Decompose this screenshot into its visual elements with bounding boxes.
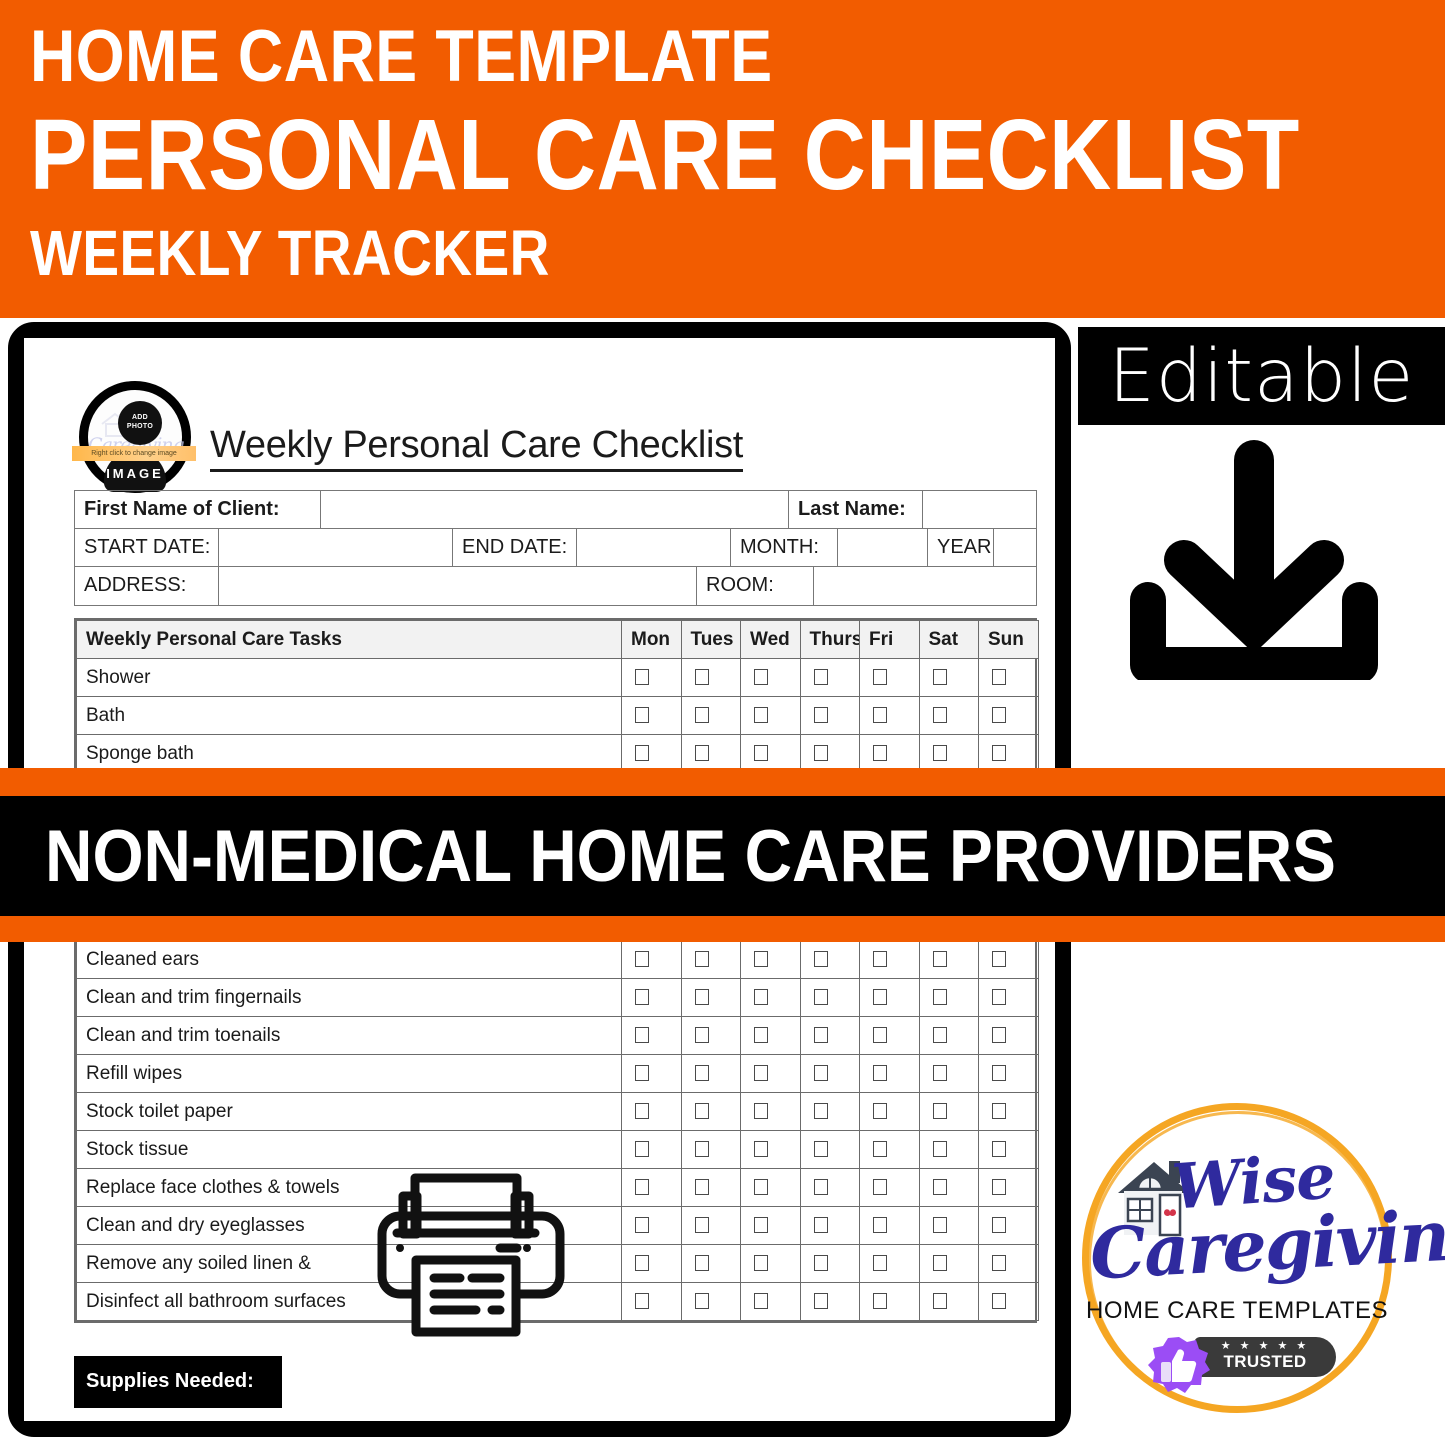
task-day-cell[interactable] xyxy=(800,1093,860,1131)
task-day-cell[interactable] xyxy=(622,735,682,773)
task-day-cell[interactable] xyxy=(681,1131,741,1169)
task-day-cell[interactable] xyxy=(681,941,741,979)
task-label: Refill wipes xyxy=(77,1055,622,1093)
task-day-cell[interactable] xyxy=(741,1017,801,1055)
task-day-cell[interactable] xyxy=(741,1283,801,1321)
checkbox-empty-icon[interactable] xyxy=(933,1293,947,1309)
checkbox-empty-icon[interactable] xyxy=(873,951,887,967)
task-day-cell[interactable] xyxy=(919,1169,979,1207)
info-label: END DATE: xyxy=(453,529,577,566)
task-day-cell[interactable] xyxy=(741,1055,801,1093)
checkbox-empty-icon[interactable] xyxy=(695,1103,709,1119)
task-day-cell[interactable] xyxy=(681,659,741,697)
table-row: Stock toilet paper xyxy=(77,1093,1039,1131)
task-day-cell[interactable] xyxy=(622,697,682,735)
table-header-row: Weekly Personal Care TasksMonTuesWedThur… xyxy=(77,621,1039,659)
task-day-cell[interactable] xyxy=(622,1245,682,1283)
checkbox-empty-icon[interactable] xyxy=(992,745,1006,761)
task-day-cell[interactable] xyxy=(622,1207,682,1245)
editable-badge: Editable xyxy=(1078,327,1445,425)
task-day-cell[interactable] xyxy=(622,1131,682,1169)
table-row: Shower xyxy=(77,659,1039,697)
checkbox-empty-icon[interactable] xyxy=(933,1217,947,1233)
checkbox-empty-icon[interactable] xyxy=(695,1027,709,1043)
checklist-table-top: Weekly Personal Care TasksMonTuesWedThur… xyxy=(74,618,1037,775)
task-label: Stock toilet paper xyxy=(77,1093,622,1131)
task-label: Clean and trim toenails xyxy=(77,1017,622,1055)
download-arrow-icon xyxy=(1130,440,1380,680)
checkbox-empty-icon[interactable] xyxy=(695,669,709,685)
info-label: ADDRESS: xyxy=(75,567,219,605)
task-day-cell[interactable] xyxy=(622,1093,682,1131)
brand-logo: Wise Caregiving HOME CARE TEMPLATES ★ ★ … xyxy=(1076,1097,1398,1419)
info-input[interactable] xyxy=(814,567,1036,605)
add-photo-line1: ADD xyxy=(132,414,148,421)
checkbox-empty-icon[interactable] xyxy=(992,1217,1006,1233)
task-day-cell[interactable] xyxy=(919,735,979,773)
checkbox-empty-icon[interactable] xyxy=(873,669,887,685)
checkbox-empty-icon[interactable] xyxy=(873,1179,887,1195)
checkbox-empty-icon[interactable] xyxy=(695,1141,709,1157)
task-label: Stock tissue xyxy=(77,1131,622,1169)
table-row: Sponge bath xyxy=(77,735,1039,773)
table-row: Cleaned ears xyxy=(77,941,1039,979)
document-title: Weekly Personal Care Checklist xyxy=(210,424,743,472)
task-day-cell[interactable] xyxy=(622,979,682,1017)
day-column-header: Mon xyxy=(622,621,682,659)
checkbox-empty-icon[interactable] xyxy=(754,1179,768,1195)
task-day-cell[interactable] xyxy=(622,941,682,979)
info-input[interactable] xyxy=(219,529,453,566)
info-row: First Name of Client:Last Name: xyxy=(75,491,1036,529)
checkbox-empty-icon[interactable] xyxy=(814,989,828,1005)
checkbox-empty-icon[interactable] xyxy=(992,1065,1006,1081)
task-day-cell[interactable] xyxy=(741,735,801,773)
checkbox-empty-icon[interactable] xyxy=(873,1141,887,1157)
task-label: Clean and trim fingernails xyxy=(77,979,622,1017)
checkbox-empty-icon[interactable] xyxy=(635,989,649,1005)
checkbox-empty-icon[interactable] xyxy=(814,1217,828,1233)
info-input[interactable] xyxy=(577,529,731,566)
table-row: Clean and trim fingernails xyxy=(77,979,1039,1017)
task-day-cell[interactable] xyxy=(741,1169,801,1207)
table-row: Clean and trim toenails xyxy=(77,1017,1039,1055)
task-day-cell[interactable] xyxy=(979,1093,1039,1131)
task-day-cell[interactable] xyxy=(681,1093,741,1131)
task-day-cell[interactable] xyxy=(979,1283,1039,1321)
checkbox-empty-icon[interactable] xyxy=(814,745,828,761)
checkbox-empty-icon[interactable] xyxy=(933,1103,947,1119)
info-label: Last Name: xyxy=(789,491,923,528)
task-day-cell[interactable] xyxy=(860,1055,920,1093)
task-day-cell[interactable] xyxy=(919,979,979,1017)
task-day-cell[interactable] xyxy=(741,1207,801,1245)
checkbox-empty-icon[interactable] xyxy=(814,1255,828,1271)
checkbox-empty-icon[interactable] xyxy=(933,1141,947,1157)
checkbox-empty-icon[interactable] xyxy=(695,989,709,1005)
task-day-cell[interactable] xyxy=(800,941,860,979)
checkbox-empty-icon[interactable] xyxy=(695,1293,709,1309)
task-day-cell[interactable] xyxy=(860,697,920,735)
checkbox-empty-icon[interactable] xyxy=(873,745,887,761)
task-day-cell[interactable] xyxy=(800,1055,860,1093)
mid-banner: NON-MEDICAL HOME CARE PROVIDERS xyxy=(0,796,1445,916)
task-day-cell[interactable] xyxy=(681,979,741,1017)
checkbox-empty-icon[interactable] xyxy=(933,745,947,761)
task-day-cell[interactable] xyxy=(979,1017,1039,1055)
task-day-cell[interactable] xyxy=(919,1055,979,1093)
task-day-cell[interactable] xyxy=(979,1055,1039,1093)
task-day-cell[interactable] xyxy=(979,1131,1039,1169)
task-day-cell[interactable] xyxy=(681,1055,741,1093)
info-input[interactable] xyxy=(994,529,1036,566)
logo-image-word: IMAGE xyxy=(94,466,176,481)
checkbox-empty-icon[interactable] xyxy=(992,669,1006,685)
checkbox-empty-icon[interactable] xyxy=(635,1217,649,1233)
checkbox-empty-icon[interactable] xyxy=(635,951,649,967)
task-day-cell[interactable] xyxy=(622,1017,682,1055)
info-row: ADDRESS:ROOM: xyxy=(75,567,1036,605)
thumbs-up-icon xyxy=(1146,1335,1212,1397)
supplies-needed-label: Supplies Needed: xyxy=(74,1356,282,1408)
checkbox-empty-icon[interactable] xyxy=(754,1255,768,1271)
table-row: Refill wipes xyxy=(77,1055,1039,1093)
info-label: First Name of Client: xyxy=(75,491,321,528)
checkbox-empty-icon[interactable] xyxy=(873,1103,887,1119)
task-day-cell[interactable] xyxy=(860,1283,920,1321)
task-day-cell[interactable] xyxy=(681,1017,741,1055)
task-day-cell[interactable] xyxy=(800,659,860,697)
day-column-header: Sun xyxy=(979,621,1039,659)
checkbox-empty-icon[interactable] xyxy=(992,1179,1006,1195)
table-row: Stock tissue xyxy=(77,1131,1039,1169)
header-eyebrow: HOME CARE TEMPLATE xyxy=(30,22,1221,93)
info-label: MONTH: xyxy=(731,529,838,566)
task-day-cell[interactable] xyxy=(681,1245,741,1283)
task-day-cell[interactable] xyxy=(741,979,801,1017)
add-photo-line2: PHOTO xyxy=(127,423,153,430)
task-day-cell[interactable] xyxy=(622,659,682,697)
task-day-cell[interactable] xyxy=(800,1131,860,1169)
day-column-header: Wed xyxy=(741,621,801,659)
checkbox-empty-icon[interactable] xyxy=(814,1179,828,1195)
trusted-label: TRUSTED xyxy=(1194,1352,1336,1372)
checkbox-empty-icon[interactable] xyxy=(992,1103,1006,1119)
day-column-header: Fri xyxy=(860,621,920,659)
task-day-cell[interactable] xyxy=(979,1169,1039,1207)
task-day-cell[interactable] xyxy=(919,659,979,697)
checkbox-empty-icon[interactable] xyxy=(992,1027,1006,1043)
checkbox-empty-icon[interactable] xyxy=(933,1027,947,1043)
orange-stripe-top xyxy=(0,768,1445,796)
checkbox-empty-icon[interactable] xyxy=(814,1065,828,1081)
add-photo-button[interactable]: ADD PHOTO xyxy=(118,401,162,445)
task-day-cell[interactable] xyxy=(800,735,860,773)
task-day-cell[interactable] xyxy=(681,1207,741,1245)
task-day-cell[interactable] xyxy=(681,1283,741,1321)
task-day-cell[interactable] xyxy=(741,697,801,735)
task-day-cell[interactable] xyxy=(800,1245,860,1283)
info-label: YEAR: xyxy=(928,529,994,566)
task-day-cell[interactable] xyxy=(979,941,1039,979)
checkbox-empty-icon[interactable] xyxy=(754,707,768,723)
checkbox-empty-icon[interactable] xyxy=(814,669,828,685)
task-day-cell[interactable] xyxy=(919,1207,979,1245)
checkbox-empty-icon[interactable] xyxy=(754,1027,768,1043)
change-image-tooltip: Right click to change image xyxy=(72,446,196,461)
checkbox-empty-icon[interactable] xyxy=(933,669,947,685)
checkbox-empty-icon[interactable] xyxy=(814,1293,828,1309)
task-day-cell[interactable] xyxy=(919,1245,979,1283)
checkbox-empty-icon[interactable] xyxy=(814,707,828,723)
info-input[interactable] xyxy=(923,491,1036,528)
task-day-cell[interactable] xyxy=(681,697,741,735)
checkbox-empty-icon[interactable] xyxy=(992,1293,1006,1309)
checkbox-empty-icon[interactable] xyxy=(933,1255,947,1271)
task-day-cell[interactable] xyxy=(860,1245,920,1283)
orange-stripe-bottom xyxy=(0,916,1445,942)
checkbox-empty-icon[interactable] xyxy=(754,1065,768,1081)
checkbox-empty-icon[interactable] xyxy=(635,745,649,761)
checkbox-empty-icon[interactable] xyxy=(635,1255,649,1271)
checkbox-empty-icon[interactable] xyxy=(635,1179,649,1195)
task-label: Shower xyxy=(77,659,622,697)
task-day-cell[interactable] xyxy=(919,1093,979,1131)
task-day-cell[interactable] xyxy=(800,1017,860,1055)
task-label: Bath xyxy=(77,697,622,735)
task-day-cell[interactable] xyxy=(979,659,1039,697)
task-day-cell[interactable] xyxy=(800,979,860,1017)
page-header-banner: HOME CARE TEMPLATE PERSONAL CARE CHECKLI… xyxy=(0,0,1445,318)
checkbox-empty-icon[interactable] xyxy=(635,1293,649,1309)
trusted-badge: ★ ★ ★ ★ ★ TRUSTED xyxy=(1146,1335,1336,1377)
task-day-cell[interactable] xyxy=(919,1131,979,1169)
day-column-header: Tues xyxy=(681,621,741,659)
checkbox-empty-icon[interactable] xyxy=(992,1141,1006,1157)
checkbox-empty-icon[interactable] xyxy=(695,1255,709,1271)
checkbox-empty-icon[interactable] xyxy=(933,1179,947,1195)
task-day-cell[interactable] xyxy=(800,1169,860,1207)
logo-image-placeholder[interactable]: Caregiving ADD PHOTO IMAGE Right click t… xyxy=(74,378,196,495)
checkbox-empty-icon[interactable] xyxy=(754,1141,768,1157)
checkbox-empty-icon[interactable] xyxy=(873,1065,887,1081)
info-row: START DATE:END DATE:MONTH:YEAR: xyxy=(75,529,1036,567)
task-day-cell[interactable] xyxy=(741,1093,801,1131)
task-day-cell[interactable] xyxy=(979,979,1039,1017)
task-day-cell[interactable] xyxy=(622,1283,682,1321)
checkbox-empty-icon[interactable] xyxy=(635,1103,649,1119)
checkbox-empty-icon[interactable] xyxy=(754,745,768,761)
checkbox-empty-icon[interactable] xyxy=(635,1065,649,1081)
checkbox-empty-icon[interactable] xyxy=(933,707,947,723)
checkbox-empty-icon[interactable] xyxy=(754,951,768,967)
checkbox-empty-icon[interactable] xyxy=(754,989,768,1005)
header-title: PERSONAL CARE CHECKLIST xyxy=(30,107,1221,204)
task-day-cell[interactable] xyxy=(681,1169,741,1207)
checkbox-empty-icon[interactable] xyxy=(695,1217,709,1233)
client-info-grid: First Name of Client:Last Name:START DAT… xyxy=(74,490,1037,606)
checkbox-empty-icon[interactable] xyxy=(873,989,887,1005)
table-row: Bath xyxy=(77,697,1039,735)
task-label: Sponge bath xyxy=(77,735,622,773)
checkbox-empty-icon[interactable] xyxy=(873,1217,887,1233)
checkbox-empty-icon[interactable] xyxy=(814,1103,828,1119)
checkbox-empty-icon[interactable] xyxy=(873,1293,887,1309)
star-rating: ★ ★ ★ ★ ★ xyxy=(1194,1341,1336,1352)
task-day-cell[interactable] xyxy=(622,1055,682,1093)
checkbox-empty-icon[interactable] xyxy=(635,669,649,685)
checkbox-empty-icon[interactable] xyxy=(754,1293,768,1309)
checkbox-empty-icon[interactable] xyxy=(754,1103,768,1119)
checkbox-empty-icon[interactable] xyxy=(695,707,709,723)
checkbox-empty-icon[interactable] xyxy=(695,1179,709,1195)
checklist-table: Weekly Personal Care TasksMonTuesWedThur… xyxy=(76,620,1039,773)
checkbox-empty-icon[interactable] xyxy=(814,1141,828,1157)
info-label: ROOM: xyxy=(697,567,814,605)
checkbox-empty-icon[interactable] xyxy=(754,1217,768,1233)
checkbox-empty-icon[interactable] xyxy=(873,1255,887,1271)
checkbox-empty-icon[interactable] xyxy=(992,707,1006,723)
info-input[interactable] xyxy=(219,567,697,605)
checkbox-empty-icon[interactable] xyxy=(814,951,828,967)
task-day-cell[interactable] xyxy=(860,979,920,1017)
checkbox-empty-icon[interactable] xyxy=(635,1027,649,1043)
task-column-header: Weekly Personal Care Tasks xyxy=(77,621,622,659)
task-day-cell[interactable] xyxy=(979,1207,1039,1245)
trusted-pill: ★ ★ ★ ★ ★ TRUSTED xyxy=(1194,1337,1336,1377)
header-subtitle: WEEKLY TRACKER xyxy=(30,222,1221,284)
checkbox-empty-icon[interactable] xyxy=(992,989,1006,1005)
checkbox-empty-icon[interactable] xyxy=(695,1065,709,1081)
checkbox-empty-icon[interactable] xyxy=(992,951,1006,967)
checkbox-empty-icon[interactable] xyxy=(873,707,887,723)
task-day-cell[interactable] xyxy=(860,1093,920,1131)
task-label: Cleaned ears xyxy=(77,941,622,979)
task-day-cell[interactable] xyxy=(681,735,741,773)
task-day-cell[interactable] xyxy=(860,1207,920,1245)
task-day-cell[interactable] xyxy=(622,1169,682,1207)
checkbox-empty-icon[interactable] xyxy=(933,951,947,967)
checkbox-empty-icon[interactable] xyxy=(635,707,649,723)
checkbox-empty-icon[interactable] xyxy=(695,951,709,967)
task-day-cell[interactable] xyxy=(800,1283,860,1321)
task-day-cell[interactable] xyxy=(800,1207,860,1245)
brand-tagline: HOME CARE TEMPLATES xyxy=(1076,1297,1398,1325)
task-day-cell[interactable] xyxy=(979,735,1039,773)
task-day-cell[interactable] xyxy=(860,1169,920,1207)
task-day-cell[interactable] xyxy=(741,941,801,979)
checkbox-empty-icon[interactable] xyxy=(933,989,947,1005)
checkbox-empty-icon[interactable] xyxy=(754,669,768,685)
task-day-cell[interactable] xyxy=(979,1245,1039,1283)
info-label: START DATE: xyxy=(75,529,219,566)
task-day-cell[interactable] xyxy=(741,1245,801,1283)
task-day-cell[interactable] xyxy=(919,941,979,979)
task-day-cell[interactable] xyxy=(860,735,920,773)
checkbox-empty-icon[interactable] xyxy=(814,1027,828,1043)
task-day-cell[interactable] xyxy=(860,659,920,697)
day-column-header: Thurs xyxy=(800,621,860,659)
info-input[interactable] xyxy=(838,529,928,566)
editable-badge-label: Editable xyxy=(1109,340,1415,413)
checkbox-empty-icon[interactable] xyxy=(635,1141,649,1157)
task-day-cell[interactable] xyxy=(741,1131,801,1169)
task-day-cell[interactable] xyxy=(919,1017,979,1055)
task-day-cell[interactable] xyxy=(919,697,979,735)
task-day-cell[interactable] xyxy=(800,697,860,735)
task-day-cell[interactable] xyxy=(860,1131,920,1169)
checkbox-empty-icon[interactable] xyxy=(933,1065,947,1081)
checkbox-empty-icon[interactable] xyxy=(873,1027,887,1043)
task-day-cell[interactable] xyxy=(979,697,1039,735)
day-column-header: Sat xyxy=(919,621,979,659)
printer-icon xyxy=(372,1168,572,1343)
mid-banner-text: NON-MEDICAL HOME CARE PROVIDERS xyxy=(45,815,1336,898)
task-day-cell[interactable] xyxy=(919,1283,979,1321)
task-day-cell[interactable] xyxy=(860,1017,920,1055)
task-day-cell[interactable] xyxy=(741,659,801,697)
info-input[interactable] xyxy=(321,491,789,528)
task-day-cell[interactable] xyxy=(860,941,920,979)
checkbox-empty-icon[interactable] xyxy=(992,1255,1006,1271)
checkbox-empty-icon[interactable] xyxy=(695,745,709,761)
